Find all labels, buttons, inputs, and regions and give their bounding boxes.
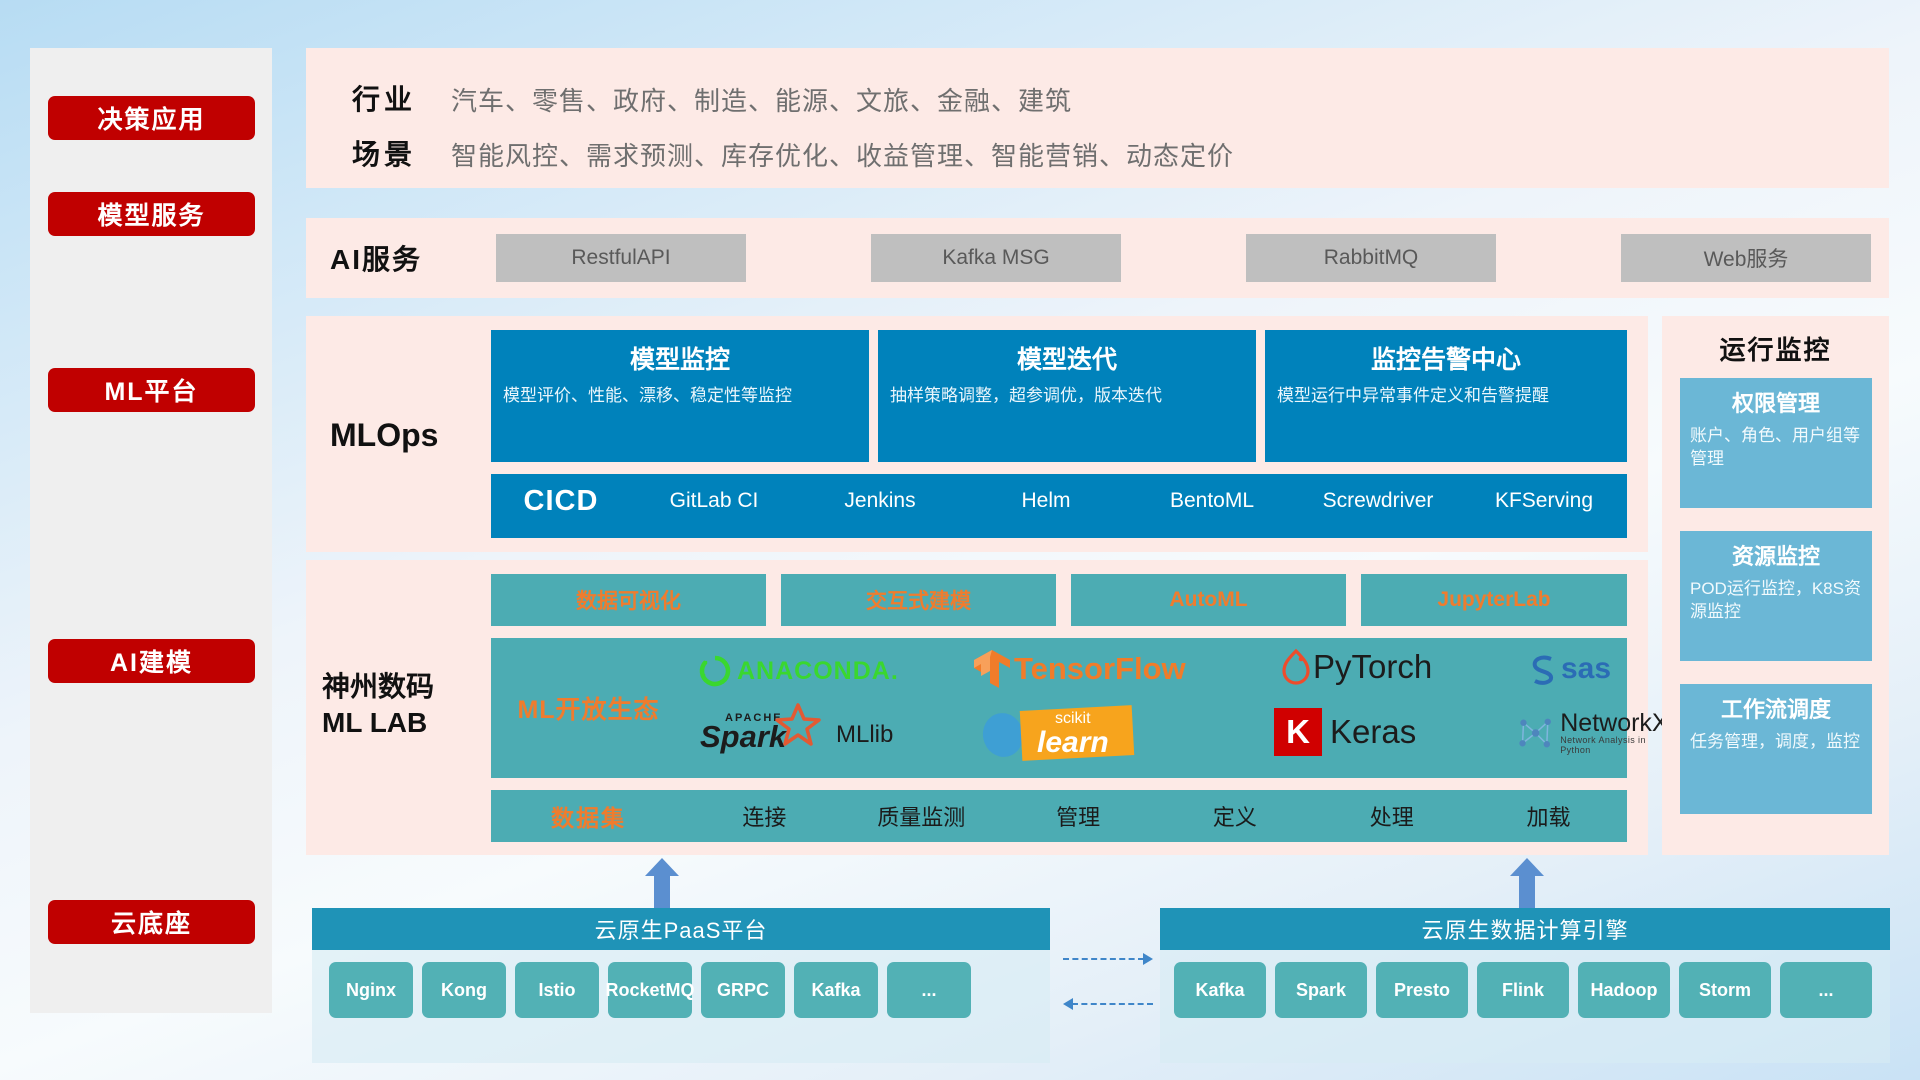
industry-list: 汽车、零售、政府、制造、能源、文旅、金融、建筑 [451, 81, 1072, 118]
mlops-card-title: 监控告警中心 [1277, 340, 1615, 376]
mlops-label: MLOps [330, 380, 480, 490]
tool-chip-automl[interactable]: AutoML [1071, 574, 1346, 626]
paas-chip-rocketmq[interactable]: RocketMQ [608, 962, 692, 1018]
pytorch-icon [1281, 648, 1311, 686]
mlops-card-desc: 抽样策略调整，超参调优，版本迭代 [890, 384, 1244, 408]
keras-logo: K Keras [1274, 708, 1416, 756]
ai-service-chip-restfulapi[interactable]: RestfulAPI [496, 234, 746, 282]
cicd-item-kfserving[interactable]: KFServing [1461, 474, 1627, 514]
tensorflow-icon [973, 648, 1011, 690]
runtime-monitor-band: 运行监控 权限管理 账户、角色、用户组等管理 资源监控 POD运行监控，K8S资… [1662, 316, 1889, 855]
mlops-card-model-iteration[interactable]: 模型迭代 抽样策略调整，超参调优，版本迭代 [878, 330, 1256, 462]
spark-word-label: Spark [700, 719, 786, 755]
networkx-logo: NetworkX Network Analysis in Python [1516, 710, 1671, 755]
keras-mark-icon: K [1274, 708, 1322, 756]
mlops-card-desc: 模型运行中异常事件定义和告警提醒 [1277, 384, 1615, 408]
compute-chip-hadoop[interactable]: Hadoop [1578, 962, 1670, 1018]
dataset-item-manage[interactable]: 管理 [1000, 800, 1157, 832]
dataset-head: 数据集 [491, 799, 686, 833]
compute-chip-presto[interactable]: Presto [1376, 962, 1468, 1018]
anaconda-label: ANACONDA. [737, 657, 899, 686]
dataset-item-process[interactable]: 处理 [1313, 800, 1470, 832]
mlops-card-alert-center[interactable]: 监控告警中心 模型运行中异常事件定义和告警提醒 [1265, 330, 1627, 462]
sas-label: sas [1561, 652, 1611, 686]
application-band: 行业 汽车、零售、政府、制造、能源、文旅、金融、建筑 场景 智能风控、需求预测、… [306, 48, 1889, 188]
keras-label: Keras [1330, 713, 1416, 751]
industry-key: 行业 [352, 78, 416, 118]
cicd-bar: CICD GitLab CI Jenkins Helm BentoML Scre… [491, 474, 1627, 538]
compute-up-arrow-icon [1510, 858, 1544, 910]
ml-ecosystem-logos: ANACONDA. TensorFlow PyTorch [686, 638, 1627, 778]
mlops-card-desc: 模型评价、性能、漂移、稳定性等监控 [503, 384, 857, 408]
cicd-title: CICD [491, 474, 631, 518]
paas-up-arrow-icon [645, 858, 679, 910]
architecture-diagram: 决策应用 模型服务 ML平台 AI建模 云底座 行业 汽车、零售、政府、制造、能… [0, 0, 1920, 1080]
dataset-item-define[interactable]: 定义 [1156, 800, 1313, 832]
tool-chip-data-visualization[interactable]: 数据可视化 [491, 574, 766, 626]
spark-star-icon [775, 702, 821, 748]
monitor-card-workflow[interactable]: 工作流调度 任务管理，调度，监控 [1680, 684, 1872, 814]
compute-chip-flink[interactable]: Flink [1477, 962, 1569, 1018]
ml-lab-label: 神州数码 ML LAB [322, 650, 492, 760]
scikit-learn-logo: scikit learn [981, 706, 1133, 760]
layer-badge-ml-platform[interactable]: ML平台 [48, 368, 255, 412]
ml-ecosystem-title: ML开放生态 [491, 690, 686, 726]
cicd-item-gitlab-ci[interactable]: GitLab CI [631, 474, 797, 514]
compute-to-paas-arrow-icon [1063, 1003, 1153, 1005]
cicd-item-bentoml[interactable]: BentoML [1129, 474, 1295, 514]
tool-chip-interactive-modeling[interactable]: 交互式建模 [781, 574, 1056, 626]
cicd-item-screwdriver[interactable]: Screwdriver [1295, 474, 1461, 514]
ai-service-chip-kafka-msg[interactable]: Kafka MSG [871, 234, 1121, 282]
dataset-bar: 数据集 连接 质量监测 管理 定义 处理 加载 [491, 790, 1627, 842]
paas-chip-kafka[interactable]: Kafka [794, 962, 878, 1018]
monitor-card-desc: 任务管理，调度，监控 [1690, 730, 1862, 753]
compute-chip-kafka[interactable]: Kafka [1174, 962, 1266, 1018]
tool-chip-jupyterlab[interactable]: JupyterLab [1361, 574, 1627, 626]
monitor-card-title: 权限管理 [1690, 386, 1862, 418]
ai-modeling-band: 数据可视化 交互式建模 AutoML JupyterLab ML开放生态 ANA… [306, 560, 1648, 855]
monitor-card-desc: POD运行监控，K8S资源监控 [1690, 577, 1862, 624]
tensorflow-label: TensorFlow [1014, 651, 1186, 687]
paas-chip-nginx[interactable]: Nginx [329, 962, 413, 1018]
paas-chip-grpc[interactable]: GRPC [701, 962, 785, 1018]
ml-ecosystem-bar: ML开放生态 ANACONDA. [491, 638, 1627, 778]
layer-badge-cloud-base[interactable]: 云底座 [48, 900, 255, 944]
scikit-bottom-label: learn [1037, 726, 1109, 760]
dataset-item-quality[interactable]: 质量监测 [843, 800, 1000, 832]
mlops-card-title: 模型监控 [503, 340, 857, 376]
mlops-band: 模型监控 模型评价、性能、漂移、稳定性等监控 模型迭代 抽样策略调整，超参调优，… [306, 316, 1648, 552]
cicd-item-jenkins[interactable]: Jenkins [797, 474, 963, 514]
ml-lab-label-line1: 神州数码 [322, 669, 434, 705]
scenario-key: 场景 [352, 133, 416, 173]
layer-badge-decision-app[interactable]: 决策应用 [48, 96, 255, 140]
compute-chip-spark[interactable]: Spark [1275, 962, 1367, 1018]
ai-service-label: AI服务 [330, 218, 470, 298]
layer-rail: 决策应用 模型服务 ML平台 AI建模 云底座 [30, 48, 272, 1013]
cicd-item-helm[interactable]: Helm [963, 474, 1129, 514]
monitor-card-permission[interactable]: 权限管理 账户、角色、用户组等管理 [1680, 378, 1872, 508]
compute-group: 云原生数据计算引擎 Kafka Spark Presto Flink Hadoo… [1160, 908, 1890, 1063]
pytorch-label: PyTorch [1313, 648, 1432, 686]
networkx-label: NetworkX [1560, 710, 1671, 736]
paas-chip-more[interactable]: ... [887, 962, 971, 1018]
paas-chip-istio[interactable]: Istio [515, 962, 599, 1018]
ai-service-chip-web-service[interactable]: Web服务 [1621, 234, 1871, 282]
sas-logo: sas [1526, 652, 1611, 686]
paas-group: 云原生PaaS平台 Nginx Kong Istio RocketMQ GRPC… [312, 908, 1050, 1063]
dataset-item-load[interactable]: 加载 [1470, 800, 1627, 832]
networkx-tagline: Network Analysis in Python [1560, 736, 1671, 755]
monitor-card-resource[interactable]: 资源监控 POD运行监控，K8S资源监控 [1680, 531, 1872, 661]
anaconda-icon [698, 654, 732, 688]
layer-badge-model-service[interactable]: 模型服务 [48, 192, 255, 236]
ml-lab-label-line2: ML LAB [322, 705, 427, 741]
mlops-card-model-monitoring[interactable]: 模型监控 模型评价、性能、漂移、稳定性等监控 [491, 330, 869, 462]
networkx-graph-icon [1516, 712, 1555, 754]
pytorch-logo: PyTorch [1281, 648, 1432, 686]
compute-chip-storm[interactable]: Storm [1679, 962, 1771, 1018]
compute-chip-more[interactable]: ... [1780, 962, 1872, 1018]
paas-to-compute-arrow-icon [1063, 958, 1153, 960]
monitor-card-title: 资源监控 [1690, 539, 1862, 571]
anaconda-logo: ANACONDA. [698, 654, 899, 688]
compute-title: 云原生数据计算引擎 [1160, 908, 1890, 950]
mlops-card-title: 模型迭代 [890, 340, 1244, 376]
keras-mark-label: K [1286, 713, 1310, 751]
scenario-list: 智能风控、需求预测、库存优化、收益管理、智能营销、动态定价 [451, 136, 1234, 173]
layer-badge-ai-modeling[interactable]: AI建模 [48, 639, 255, 683]
spark-mllib-logo: APACHE Spark MLlib [700, 710, 893, 760]
sas-icon [1526, 652, 1560, 686]
dataset-item-connect[interactable]: 连接 [686, 800, 843, 832]
paas-title: 云原生PaaS平台 [312, 908, 1050, 950]
paas-chip-kong[interactable]: Kong [422, 962, 506, 1018]
monitor-card-title: 工作流调度 [1690, 692, 1862, 724]
runtime-monitor-title: 运行监控 [1662, 330, 1889, 367]
ai-service-chip-rabbitmq[interactable]: RabbitMQ [1246, 234, 1496, 282]
tensorflow-logo: TensorFlow [973, 648, 1186, 690]
monitor-card-desc: 账户、角色、用户组等管理 [1690, 424, 1862, 471]
